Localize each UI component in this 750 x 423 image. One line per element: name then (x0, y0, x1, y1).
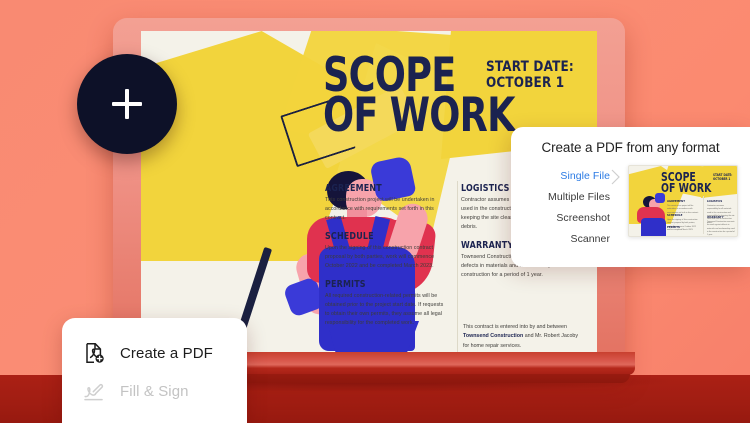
signature-icon (82, 379, 106, 403)
chevron-right-icon (610, 169, 622, 185)
poster-left-column: AGREEMENT This construction project will… (325, 183, 447, 336)
poster-start-date-value: OCTOBER 1 (486, 75, 574, 91)
thumb-title-line-2: OF WORK (661, 183, 711, 194)
thumb-badge: START DATE: OCTOBER 1 (713, 173, 732, 182)
menu-item-create-a-pdf[interactable]: Create a PDF (62, 334, 247, 372)
poster-start-date: START DATE: OCTOBER 1 (486, 59, 574, 91)
format-option-list: Single File Multiple Files Screenshot Sc… (521, 165, 616, 249)
format-option-multiple-files[interactable]: Multiple Files (521, 186, 616, 207)
menu-item-label: Create a PDF (120, 345, 213, 362)
create-menu-card: Create a PDF Fill & Sign (62, 318, 247, 423)
add-button[interactable] (77, 54, 177, 154)
contract-prefix: This contract is entered into by and bet… (463, 324, 567, 330)
thumb-right-column-2: WARRANTY Townsend Construction warrants … (707, 216, 735, 237)
thumb-left-column: AGREEMENT This construction project will… (667, 200, 699, 215)
format-option-scanner[interactable]: Scanner (521, 228, 616, 249)
thumb-badge-value: OCTOBER 1 (713, 177, 732, 181)
thumb-title: SCOPE OF WORK (661, 172, 711, 193)
poster-section-body: This construction project will be undert… (325, 196, 447, 223)
format-option-screenshot[interactable]: Screenshot (521, 207, 616, 228)
thumb-heading: PERMITS (667, 226, 699, 231)
contract-party: Townsend Construction (463, 333, 523, 339)
format-option-single-file[interactable]: Single File (521, 165, 616, 186)
panel-body: Single File Multiple Files Screenshot Sc… (511, 165, 750, 249)
poster-title-line-2: OF WORK (323, 96, 515, 136)
thumb-left-column-3: PERMITS (667, 226, 699, 231)
poster-section-heading: AGREEMENT (325, 183, 427, 194)
menu-item-fill-and-sign[interactable]: Fill & Sign (62, 372, 247, 410)
poster-section-body: All required construction-related permit… (325, 292, 447, 328)
poster-section-heading: PERMITS (325, 279, 427, 290)
screenshot-canvas: SCOPE OF WORK START DATE: OCTOBER 1 AGRE… (0, 0, 750, 423)
panel-title: Create a PDF from any format (511, 140, 750, 155)
preview-thumbnail[interactable]: SCOPE OF WORK START DATE: OCTOBER 1 AGRE… (628, 165, 738, 237)
thumb-worker-overalls (641, 218, 666, 237)
poster-start-date-label: START DATE: (486, 59, 574, 75)
poster-contract-statement: This contract is entered into by and bet… (463, 323, 585, 351)
menu-item-label: Fill & Sign (120, 383, 189, 400)
poster-section-heading: SCHEDULE (325, 231, 427, 242)
thumb-divider (703, 196, 704, 234)
create-pdf-panel: Create a PDF from any format Single File… (511, 127, 750, 267)
plus-icon-vertical (125, 89, 129, 119)
thumb-body: Townsend Construction warrants the work … (707, 221, 735, 237)
pdf-add-icon (82, 341, 106, 365)
poster-section-body: Upon the signing of this construction co… (325, 244, 447, 271)
